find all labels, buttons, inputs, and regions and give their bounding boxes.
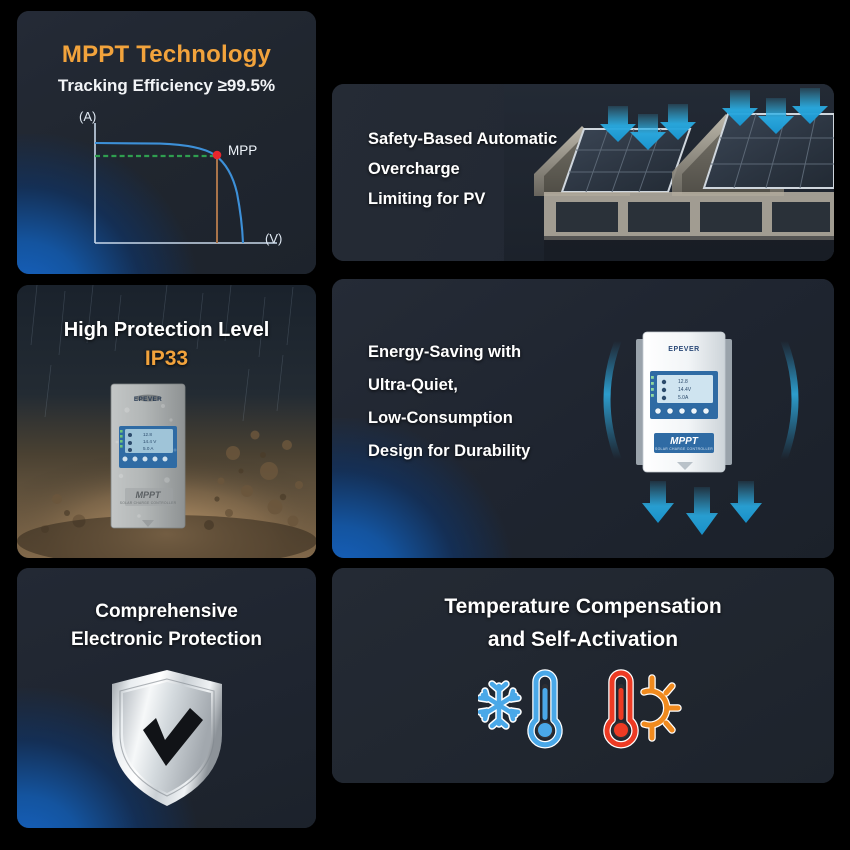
- svg-text:EPEVER: EPEVER: [668, 346, 699, 353]
- mppt-subtitle: Tracking Efficiency ≥99.5%: [17, 76, 316, 96]
- safety-line-2: Overcharge: [368, 154, 608, 184]
- safety-line-1: Safety-Based Automatic: [368, 124, 608, 154]
- chart-mpp-label: MPP: [228, 143, 257, 158]
- panel-mppt-technology: MPPT Technology Tracking Efficiency ≥99.…: [17, 11, 316, 274]
- snowflake-thermometer-icon: [478, 668, 570, 755]
- sun-thermometer-icon: [596, 668, 688, 755]
- ip33-title: High Protection Level: [17, 319, 316, 342]
- panel-temperature-compensation: Temperature Compensation and Self-Activa…: [332, 568, 834, 783]
- temperature-icons: [332, 668, 834, 755]
- svg-text:5.0A: 5.0A: [678, 395, 689, 401]
- mppt-controller-device-wet: EPEVER 12.814.4 V 5.0 A MPPT SOLAR CHARG…: [105, 380, 201, 532]
- temperature-line-1: Temperature Compensation: [332, 590, 834, 623]
- mppt-controller-device-white: EPEVER 12.814.4V5.0A MPPT SOLAR CHARGE C…: [632, 329, 736, 477]
- temperature-heading: Temperature Compensation and Self-Activa…: [332, 590, 834, 656]
- svg-text:12.8: 12.8: [143, 432, 152, 437]
- panel-high-protection-level: High Protection Level IP33: [17, 285, 316, 558]
- safety-line-3: Limiting for PV: [368, 184, 608, 214]
- shield-heading: Comprehensive Electronic Protection: [17, 598, 316, 654]
- chart-y-axis-label: (A): [79, 109, 96, 124]
- infographic-root: MPPT Technology Tracking Efficiency ≥99.…: [0, 0, 850, 850]
- svg-text:12.8: 12.8: [678, 379, 688, 385]
- svg-text:SOLAR CHARGE CONTROLLER: SOLAR CHARGE CONTROLLER: [120, 501, 177, 505]
- svg-text:EPEVER: EPEVER: [134, 396, 162, 403]
- panel-electronic-protection: Comprehensive Electronic Protection: [17, 568, 316, 828]
- chart-x-axis-label: (V): [265, 231, 282, 246]
- shield-line-2: Electronic Protection: [17, 626, 316, 654]
- ip33-rating: IP33: [17, 347, 316, 371]
- svg-text:SOLAR CHARGE CONTROLLER: SOLAR CHARGE CONTROLLER: [655, 447, 713, 451]
- mppt-title: MPPT Technology: [17, 41, 316, 69]
- svg-text:5.0 A: 5.0 A: [143, 446, 154, 451]
- svg-text:14.4V: 14.4V: [678, 387, 692, 393]
- panel-energy-saving: Energy-Saving with Ultra-Quiet, Low-Cons…: [332, 279, 834, 558]
- svg-text:MPPT: MPPT: [135, 490, 162, 500]
- iv-curve-chart: (A) (V) MPP: [65, 111, 295, 266]
- svg-text:14.4 V: 14.4 V: [143, 439, 157, 444]
- shield-check-icon: [108, 668, 226, 808]
- svg-text:MPPT: MPPT: [670, 436, 699, 447]
- panel-overcharge-limiting: Safety-Based Automatic Overcharge Limiti…: [332, 84, 834, 261]
- safety-text-block: Safety-Based Automatic Overcharge Limiti…: [368, 124, 608, 214]
- temperature-line-2: and Self-Activation: [332, 623, 834, 656]
- shield-line-1: Comprehensive: [17, 598, 316, 626]
